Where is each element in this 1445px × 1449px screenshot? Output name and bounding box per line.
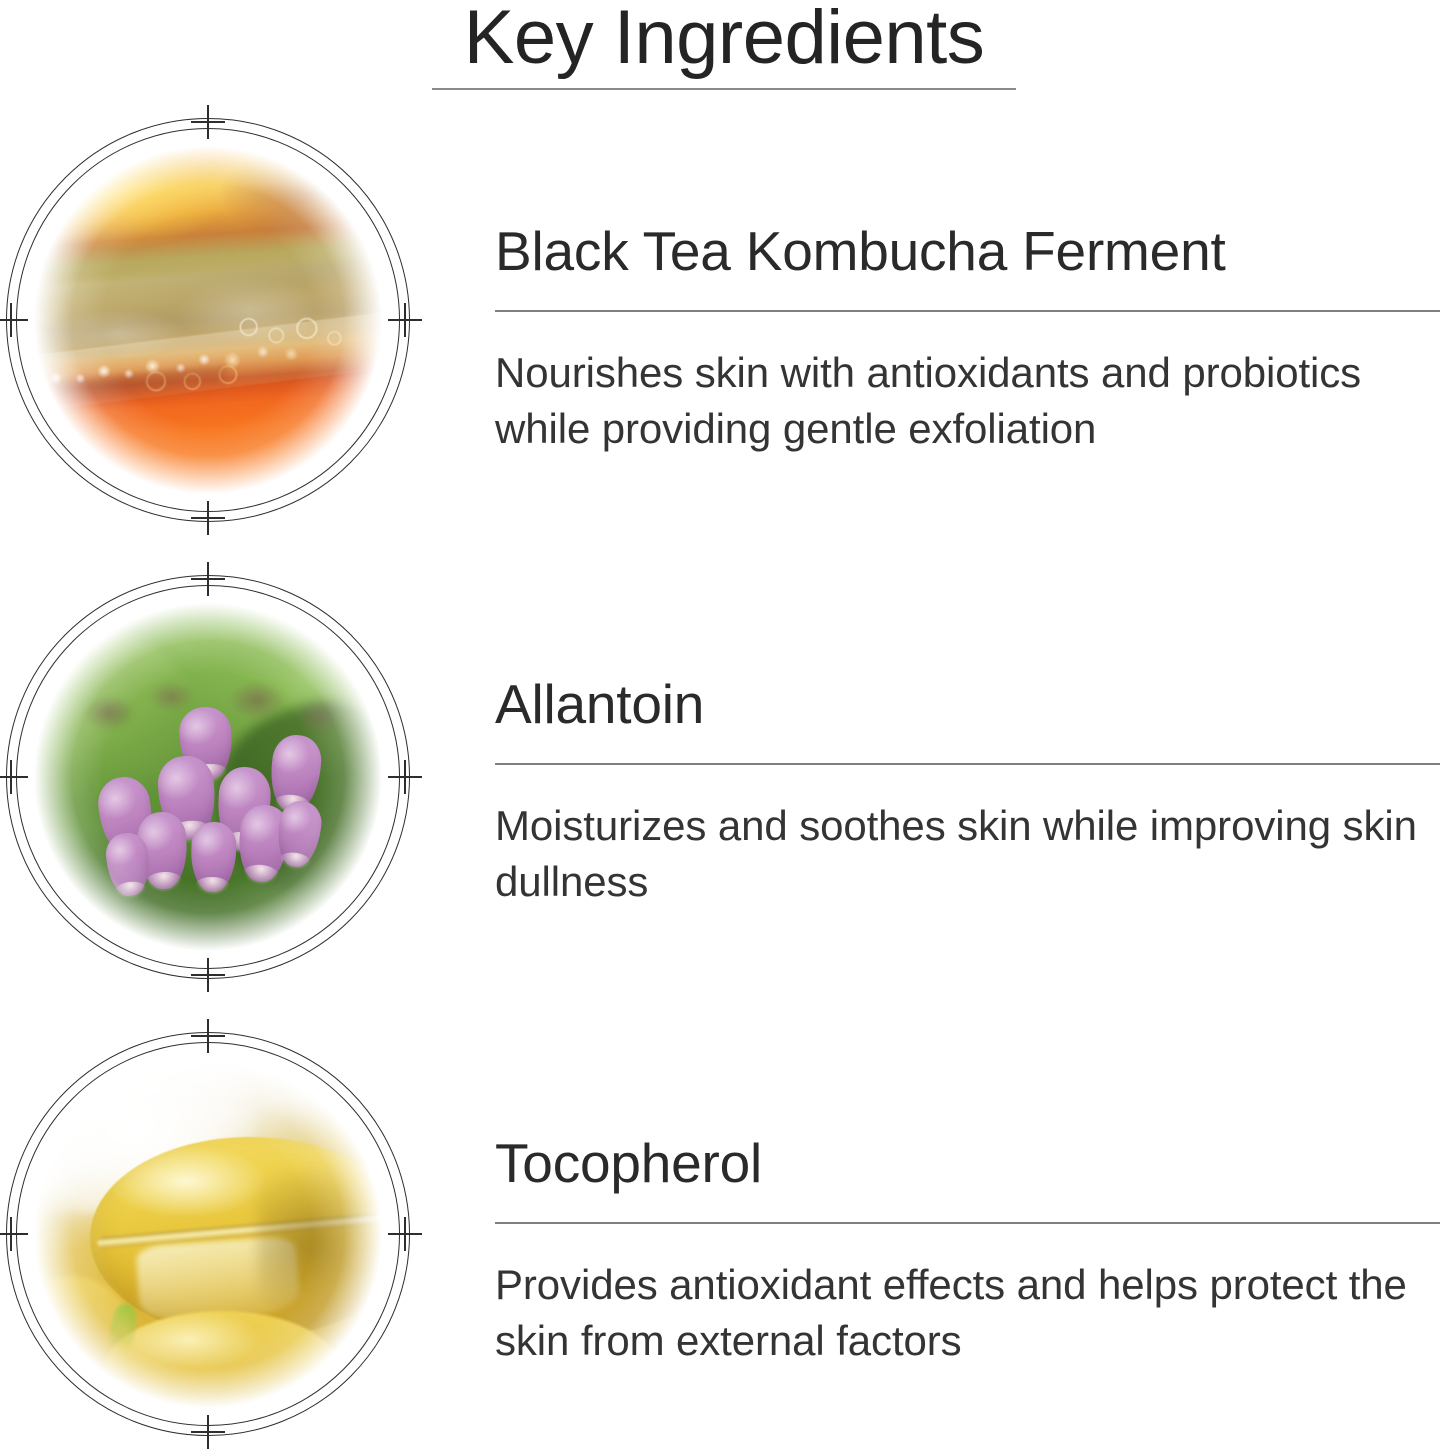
crosshair-icon-left [0,303,28,337]
ingredient-text-column: Allantoin Moisturizes and soothes skin w… [495,674,1440,911]
ingredient-description: Nourishes skin with antioxidants and pro… [495,345,1440,458]
ingredient-description: Moisturizes and soothes skin while impro… [495,798,1440,911]
ingredient-description: Provides antioxidant effects and helps p… [495,1257,1440,1370]
ingredient-divider [495,763,1440,765]
ingredient-text-column: Black Tea Kombucha Ferment Nourishes ski… [495,221,1440,458]
crosshair-icon-right [388,303,422,337]
ingredient-text-column: Tocopherol Provides antioxidant effects … [495,1133,1440,1370]
crosshair-icon-bottom [191,501,225,535]
crosshair-icon-left [0,1217,28,1251]
crosshair-icon-top [191,105,225,139]
ingredient-divider [495,1222,1440,1224]
crosshair-icon-top [191,1019,225,1053]
frame-inner-ring [16,1042,400,1426]
frame-inner-ring [16,585,400,969]
ingredient-divider [495,310,1440,312]
page-title: Key Ingredients [432,0,1016,82]
crosshair-icon-top [191,562,225,596]
crosshair-icon-left [0,760,28,794]
ingredient-name: Allantoin [495,674,1440,735]
crosshair-icon-right [388,760,422,794]
ingredient-name: Tocopherol [495,1133,1440,1194]
title-underline [432,88,1016,90]
crosshair-icon-bottom [191,1415,225,1449]
frame-inner-ring [16,128,400,512]
ingredient-image-frame [6,1032,410,1436]
crosshair-icon-bottom [191,958,225,992]
page-title-block: Key Ingredients [432,0,1016,90]
crosshair-icon-right [388,1217,422,1251]
ingredient-name: Black Tea Kombucha Ferment [495,221,1440,282]
ingredient-image-frame [6,118,410,522]
ingredient-image-frame [6,575,410,979]
